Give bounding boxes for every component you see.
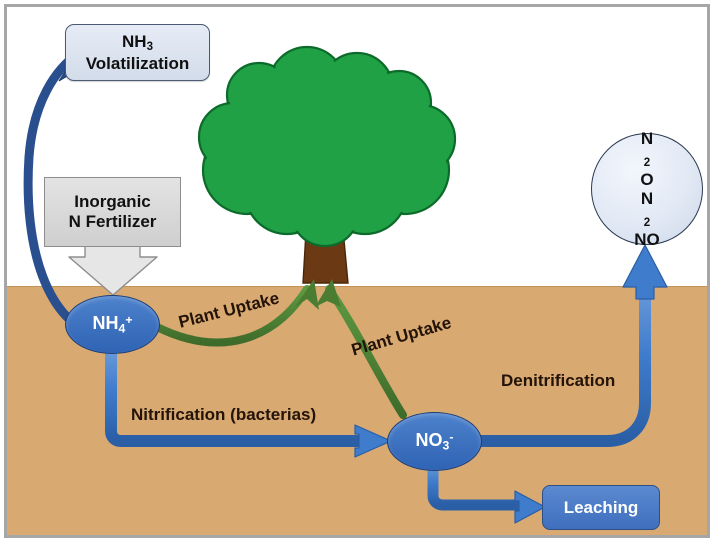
nh3-volatilization-label: Volatilization — [86, 54, 190, 73]
fertilizer-line-2: N Fertilizer — [69, 212, 157, 231]
diagram-frame: NH3 Volatilization Inorganic N Fertilize… — [4, 4, 710, 538]
gas-n2o: N2O — [634, 129, 660, 189]
ammonium-formula: NH4+ — [93, 313, 133, 336]
node-nh3-volatilization[interactable]: NH3 Volatilization — [65, 24, 210, 81]
leaching-label: Leaching — [564, 498, 639, 517]
node-leaching[interactable]: Leaching — [542, 485, 660, 530]
label-nitrification: Nitrification (bacterias) — [131, 405, 316, 425]
label-denitrification: Denitrification — [501, 371, 615, 391]
gas-no: NO — [634, 230, 660, 249]
arrow-leaching — [433, 463, 545, 523]
nitrogen-cycle-diagram: NH3 Volatilization Inorganic N Fertilize… — [0, 0, 720, 548]
fertilizer-label-box: Inorganic N Fertilizer — [44, 177, 181, 247]
node-ammonium-pool[interactable]: NH4+ — [65, 295, 160, 354]
nitrate-formula: NO3- — [416, 430, 454, 453]
gas-n2: N2 — [634, 189, 660, 230]
arrow-nitrification — [111, 349, 391, 457]
node-nitrate-pool[interactable]: NO3- — [387, 412, 482, 471]
nh3-formula: NH3 — [122, 32, 153, 51]
fertilizer-line-1: Inorganic — [74, 192, 151, 211]
node-inorganic-n-fertilizer[interactable]: Inorganic N Fertilizer — [44, 177, 181, 289]
arrow-denitrification — [477, 245, 667, 441]
node-gaseous-losses[interactable]: N2O N2 NO — [591, 133, 703, 245]
